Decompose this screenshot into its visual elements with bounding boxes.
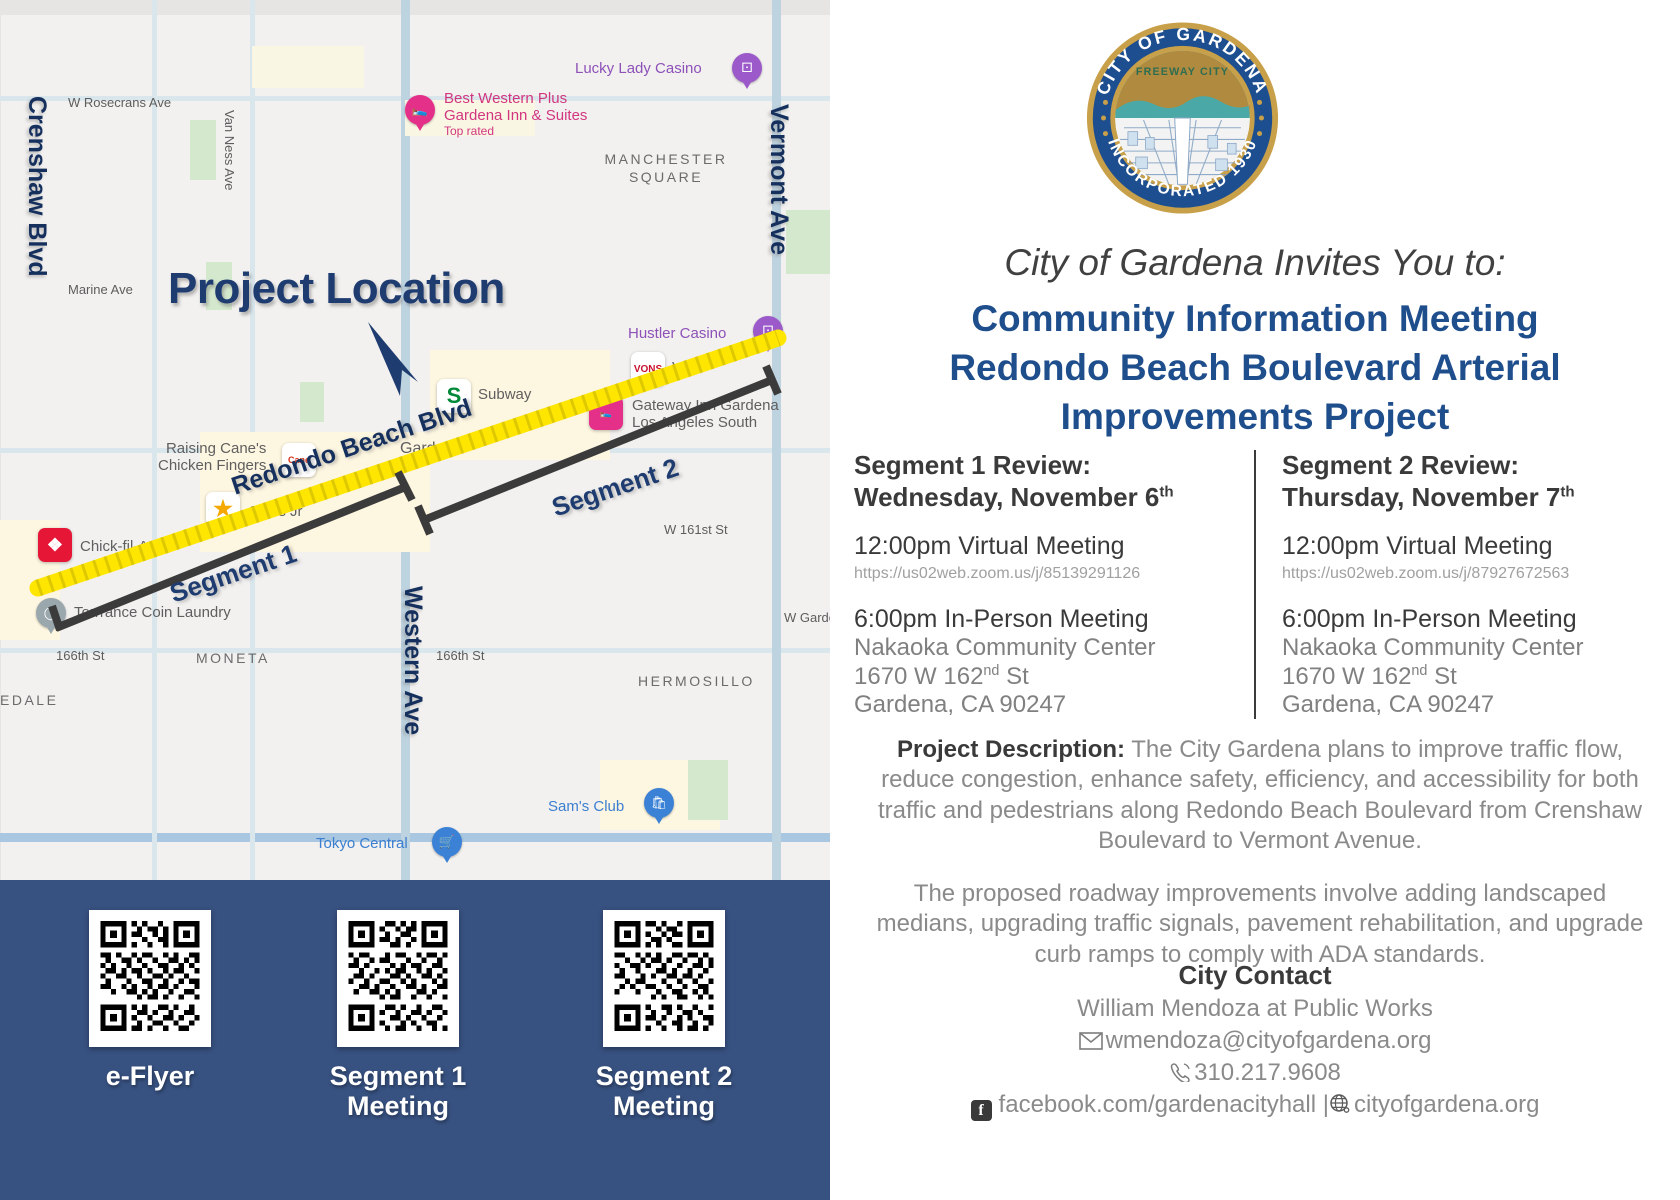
segment-1-city: Gardena, CA 90247 bbox=[854, 691, 1228, 719]
qr-image bbox=[343, 916, 453, 1036]
qr-code-segment-2[interactable] bbox=[603, 910, 725, 1047]
contact-phone-row[interactable]: 310.217.9608 bbox=[850, 1059, 1660, 1087]
qr-image bbox=[609, 916, 719, 1036]
segment-2-city: Gardena, CA 90247 bbox=[1282, 691, 1654, 719]
qr-item-segment-1[interactable]: Segment 1 Meeting bbox=[302, 910, 494, 1121]
segment-2-venue: Nakaoka Community Center bbox=[1282, 634, 1654, 662]
qr-item-e-flyer[interactable]: e-Flyer bbox=[64, 910, 236, 1091]
contact-email-row[interactable]: wmendoza@cityofgardena.org bbox=[850, 1027, 1660, 1055]
qr-item-segment-2[interactable]: Segment 2 Meeting bbox=[568, 910, 760, 1121]
contact-facebook[interactable]: facebook.com/gardenacityhall bbox=[999, 1091, 1317, 1118]
segment-2-address-num: 1670 W 162 bbox=[1282, 663, 1411, 690]
meeting-grid: Segment 1 Review: Wednesday, November 6t… bbox=[854, 450, 1654, 719]
qr-code-segment-1[interactable] bbox=[337, 910, 459, 1047]
segment-1-virtual-label: 12:00pm Virtual Meeting bbox=[854, 532, 1228, 561]
segment-2-zoom-link[interactable]: https://us02web.zoom.us/j/87927672563 bbox=[1282, 565, 1654, 583]
meeting-column-segment-1: Segment 1 Review: Wednesday, November 6t… bbox=[854, 450, 1254, 719]
project-description-block: Project Description: The City Gardena pl… bbox=[862, 735, 1658, 970]
contact-social-row[interactable]: ffacebook.com/gardenacityhall | cityofga… bbox=[850, 1091, 1660, 1121]
qr-caption-segment-2: Segment 2 Meeting bbox=[568, 1061, 760, 1121]
qr-caption-segment-1: Segment 1 Meeting bbox=[302, 1061, 494, 1121]
description-label: Project Description: bbox=[897, 736, 1125, 763]
segment-2-date: Thursday, November 7 bbox=[1282, 482, 1560, 512]
map-canvas[interactable]: W Rosecrans Ave Van Ness Ave Marine Ave … bbox=[0, 0, 830, 880]
globe-icon bbox=[1329, 1094, 1351, 1114]
description-paragraph-1: Project Description: The City Gardena pl… bbox=[862, 735, 1658, 857]
segment-1-heading: Segment 1 Review: Wednesday, November 6t… bbox=[854, 450, 1228, 513]
segment-1-address-num: 1670 W 162 bbox=[854, 663, 983, 690]
segment-1-venue: Nakaoka Community Center bbox=[854, 634, 1228, 662]
qr-band: e-Flyer bbox=[0, 880, 830, 1200]
qr-code-e-flyer[interactable] bbox=[89, 910, 211, 1047]
phone-icon bbox=[1169, 1062, 1191, 1082]
segment-1-address: 1670 W 162nd St bbox=[854, 663, 1228, 691]
contact-title: City Contact bbox=[850, 960, 1660, 991]
segment-1-inperson-label: 6:00pm In-Person Meeting bbox=[854, 605, 1228, 634]
segment-1-address-rest: St bbox=[999, 663, 1028, 690]
qr-caption-e-flyer: e-Flyer bbox=[64, 1061, 236, 1091]
contact-phone[interactable]: 310.217.9608 bbox=[1194, 1059, 1341, 1086]
invite-line: City of Gardena Invites You to: bbox=[830, 242, 1680, 284]
segment-2-heading-line1: Segment 2 Review: bbox=[1282, 450, 1654, 482]
title-line-3: Improvements Project bbox=[840, 392, 1670, 441]
qr-image bbox=[95, 916, 205, 1036]
segment-2-heading: Segment 2 Review: Thursday, November 7th bbox=[1282, 450, 1654, 513]
flyer-page: W Rosecrans Ave Van Ness Ave Marine Ave … bbox=[0, 0, 1680, 1200]
segment-1-date-sup: th bbox=[1159, 483, 1173, 500]
segment-1-heading-line1: Segment 1 Review: bbox=[854, 450, 1228, 482]
segment-1-heading-line2: Wednesday, November 6th bbox=[854, 482, 1228, 514]
facebook-icon: f bbox=[971, 1100, 992, 1121]
city-of-gardena-seal: CITY OF GARDENA INCORPORATED 1930 FREEWA… bbox=[1085, 18, 1280, 218]
contact-block: City Contact William Mendoza at Public W… bbox=[850, 960, 1660, 1121]
segment-2-heading-line2: Thursday, November 7th bbox=[1282, 482, 1654, 514]
contact-website[interactable]: cityofgardena.org bbox=[1354, 1091, 1539, 1118]
segment-1-date: Wednesday, November 6 bbox=[854, 482, 1159, 512]
page-title: Community Information Meeting Redondo Be… bbox=[840, 294, 1670, 442]
segment-2-date-sup: th bbox=[1560, 483, 1574, 500]
segment-2-virtual-label: 12:00pm Virtual Meeting bbox=[1282, 532, 1654, 561]
segment-2-inperson-label: 6:00pm In-Person Meeting bbox=[1282, 605, 1654, 634]
corridor-label-crenshaw-blvd: Crenshaw Blvd bbox=[22, 96, 51, 277]
segment-1-zoom-link[interactable]: https://us02web.zoom.us/j/85139291126 bbox=[854, 565, 1228, 583]
segment-2-address-rest: St bbox=[1427, 663, 1456, 690]
info-panel: CITY OF GARDENA INCORPORATED 1930 FREEWA… bbox=[830, 0, 1680, 1200]
title-line-1: Community Information Meeting bbox=[840, 294, 1670, 343]
segment-2-address-sup: nd bbox=[1411, 663, 1427, 679]
title-line-2: Redondo Beach Boulevard Arterial bbox=[840, 343, 1670, 392]
contact-person: William Mendoza at Public Works bbox=[850, 995, 1660, 1023]
meeting-column-segment-2: Segment 2 Review: Thursday, November 7th… bbox=[1254, 450, 1654, 719]
contact-email[interactable]: wmendoza@cityofgardena.org bbox=[1106, 1027, 1432, 1054]
segment-1-address-sup: nd bbox=[983, 663, 999, 679]
project-location-callout: Project Location bbox=[168, 264, 505, 314]
seal-inner-text: FREEWAY CITY bbox=[1136, 66, 1229, 78]
corridor-label-western-ave: Western Ave bbox=[398, 586, 427, 735]
segment-2-address: 1670 W 162nd St bbox=[1282, 663, 1654, 691]
map-panel: W Rosecrans Ave Van Ness Ave Marine Ave … bbox=[0, 0, 830, 1200]
corridor-label-vermont-ave: Vermont Ave bbox=[764, 104, 793, 255]
description-paragraph-2: The proposed roadway improvements involv… bbox=[862, 879, 1658, 970]
envelope-icon bbox=[1079, 1032, 1103, 1050]
